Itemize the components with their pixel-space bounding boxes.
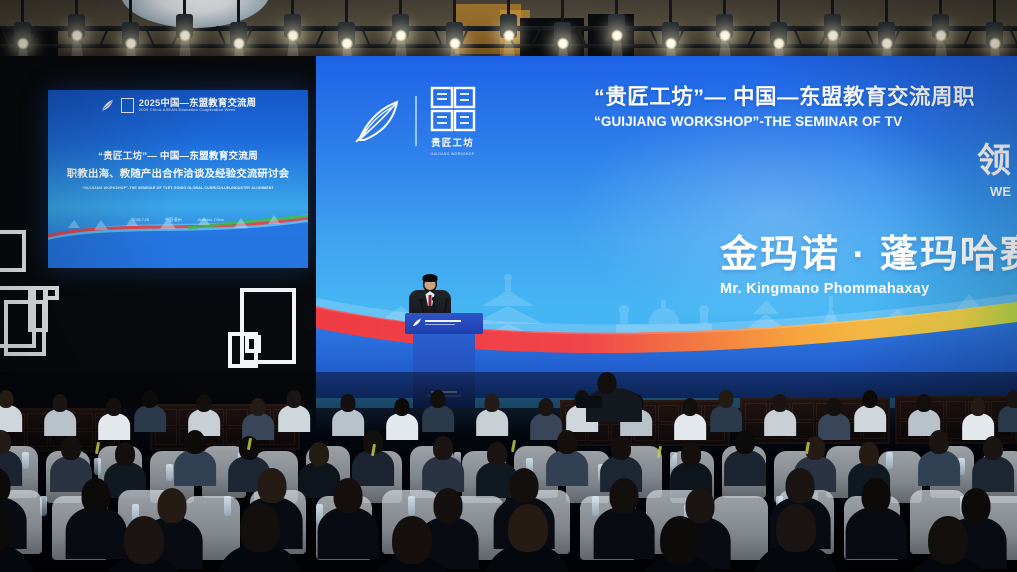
audience-head xyxy=(786,468,815,503)
audience-head xyxy=(859,442,879,466)
light-hanger xyxy=(453,0,456,22)
audience-head xyxy=(286,390,301,408)
stage-spotlight-icon xyxy=(122,22,139,46)
stage-spotlight-icon xyxy=(824,14,841,38)
decor-frame-5 xyxy=(0,230,26,272)
side-screen-header-text: 2025中国—东盟教育交流周 2025 China-ASEAN Educatio… xyxy=(139,98,256,112)
audience-shoulders xyxy=(134,405,166,432)
audience-member xyxy=(242,398,274,440)
audience-member xyxy=(638,516,722,572)
audience-head xyxy=(142,390,157,408)
audience-head xyxy=(394,398,409,416)
audience-shoulders xyxy=(972,456,1014,492)
audience-member xyxy=(370,516,454,572)
audience-member xyxy=(278,390,310,432)
audience-member xyxy=(422,436,464,491)
audience-head xyxy=(240,504,280,552)
light-hanger xyxy=(237,0,240,22)
audience-member xyxy=(218,504,302,572)
stage-spotlight-icon xyxy=(392,14,409,38)
audience-member xyxy=(352,430,394,485)
side-screen-wave-graphic xyxy=(48,210,308,268)
audience-head xyxy=(610,478,639,513)
leaf-brand-icon xyxy=(100,98,116,112)
water-bottle xyxy=(94,458,101,475)
audience-member xyxy=(674,398,706,440)
side-screen-header-en: 2025 China-ASEAN Education Cooperation W… xyxy=(139,108,256,112)
audience-member xyxy=(962,398,994,440)
audience-shoulders xyxy=(674,413,706,440)
stage-spotlight-icon xyxy=(986,22,1003,46)
audience-shoulders xyxy=(764,409,796,436)
stage-spotlight-icon xyxy=(878,22,895,46)
light-hanger xyxy=(561,0,564,22)
audience-head xyxy=(970,398,985,416)
audience-head xyxy=(52,394,67,412)
audience-head xyxy=(484,394,499,412)
side-screen-title-en: “GUIJIANG WORKSHOP”-THE SEMINAR OF TVET … xyxy=(48,186,308,190)
speaker-name-en: Mr. Kingmano Phommahaxay xyxy=(720,281,1017,297)
seal-icon xyxy=(121,98,134,113)
audience-shoulders xyxy=(0,405,22,432)
light-hanger xyxy=(777,0,780,22)
session-label-en: WE xyxy=(977,184,1011,199)
stage-spotlight-icon xyxy=(608,14,625,38)
speaker-hair xyxy=(423,274,438,282)
audience-head xyxy=(682,398,697,416)
audience-head xyxy=(82,478,111,513)
audience-member xyxy=(998,390,1017,432)
light-hanger xyxy=(723,0,726,14)
stage-spotlight-icon xyxy=(338,22,355,46)
audience-head xyxy=(929,430,949,454)
audience-head xyxy=(538,398,553,416)
stage-spotlight-icon xyxy=(932,14,949,38)
water-bottle xyxy=(40,496,47,516)
event-logo-lockup: 贵匠工坊 GUIJIANG WORKSHOP xyxy=(354,86,476,156)
speaker-tie xyxy=(429,295,432,306)
audience-member xyxy=(754,504,838,572)
square-seal-icon xyxy=(430,86,476,132)
water-bottle xyxy=(22,452,29,469)
audience-member xyxy=(818,398,850,440)
light-hanger xyxy=(831,0,834,14)
audience-member xyxy=(846,478,907,558)
logo-divider xyxy=(415,96,417,146)
side-screen-header: 2025中国—东盟教育交流周 2025 China-ASEAN Educatio… xyxy=(48,90,308,120)
audience-member xyxy=(710,390,742,432)
audience-member xyxy=(486,504,570,572)
stage-spotlight-icon xyxy=(284,14,301,38)
audience-member xyxy=(764,394,796,436)
audience-head xyxy=(250,398,265,416)
audience-member xyxy=(174,430,216,485)
leaf-brand-icon xyxy=(354,98,402,144)
audience-head xyxy=(718,390,733,408)
audience-head xyxy=(983,436,1003,460)
audience-head xyxy=(0,504,12,552)
audience-head xyxy=(258,468,287,503)
audience-member xyxy=(854,390,886,432)
light-hanger xyxy=(75,0,78,14)
podium-brand-text xyxy=(425,320,461,325)
light-hanger xyxy=(345,0,348,22)
speaker-name-cn: 金玛诺 · 蓬玛哈赛 xyxy=(720,236,1017,274)
audience-head xyxy=(862,478,891,513)
stage-spotlight-icon xyxy=(770,22,787,46)
audience-head xyxy=(735,430,755,454)
light-hanger xyxy=(183,0,186,14)
leaf-brand-icon xyxy=(412,318,422,327)
stage-spotlight-icon xyxy=(716,14,733,38)
audience-member xyxy=(724,430,766,485)
light-hanger xyxy=(993,0,996,22)
audience-head xyxy=(334,478,363,513)
light-hanger xyxy=(399,0,402,14)
light-hanger xyxy=(507,0,510,14)
side-screen-title-block: “贵匠工坊”— 中国—东盟教育交流周 职教出海、教随产出合作洽谈及经验交流研讨会… xyxy=(48,148,308,190)
audience-shoulders xyxy=(44,409,76,436)
audience-head xyxy=(916,394,931,412)
podium-brand-line-1 xyxy=(425,320,461,322)
audience-head xyxy=(61,436,81,460)
audience-head xyxy=(681,442,701,466)
seal-logo-cn: 贵匠工坊 xyxy=(431,135,474,149)
light-hanger xyxy=(885,0,888,22)
audience-head xyxy=(487,442,507,466)
session-label-block: 领 WE xyxy=(977,144,1011,199)
audience-head xyxy=(557,430,577,454)
audience-shoulders xyxy=(98,413,130,440)
stage-spotlight-icon xyxy=(500,14,517,38)
decor-frame-4 xyxy=(43,286,59,300)
podium-top-surface xyxy=(405,313,483,334)
ceiling-speaker-box xyxy=(520,18,584,58)
audience-head xyxy=(776,504,816,552)
audience-head xyxy=(1006,390,1017,408)
audience-head xyxy=(660,516,700,564)
audience-head xyxy=(340,394,355,412)
audience-head xyxy=(309,442,329,466)
stage-spotlight-icon xyxy=(554,22,571,46)
audience-member xyxy=(102,516,186,572)
audience-member xyxy=(476,394,508,436)
conference-hall-photo: 2025中国—东盟教育交流周 2025 China-ASEAN Educatio… xyxy=(0,0,1017,572)
audience-member xyxy=(0,390,22,432)
light-hanger xyxy=(615,0,618,14)
audience-head xyxy=(928,516,968,564)
podium-brand-line-2 xyxy=(425,324,455,326)
audience-member xyxy=(44,394,76,436)
audience-shoulders xyxy=(278,405,310,432)
audience-head xyxy=(0,390,13,408)
light-hanger xyxy=(291,0,294,14)
light-hanger xyxy=(21,0,24,22)
podium-logo xyxy=(412,318,461,327)
audience-head xyxy=(115,442,135,466)
water-bottle xyxy=(408,496,415,516)
light-hanger xyxy=(939,0,942,14)
audience-head xyxy=(0,468,11,503)
stage-spotlight-icon xyxy=(446,22,463,46)
screen-headline-cn: “贵匠工坊”— 中国—东盟教育交流周职 xyxy=(594,80,1017,111)
audience-head xyxy=(826,398,841,416)
photographer-head xyxy=(598,372,617,394)
screen-headline-block: “贵匠工坊”— 中国—东盟教育交流周职 “GUIJIANG WORKSHOP”-… xyxy=(594,80,1017,129)
side-screen-title-line1: “贵匠工坊”— 中国—东盟教育交流周 xyxy=(48,148,308,162)
audience-member xyxy=(98,398,130,440)
side-projection-screen: 2025中国—东盟教育交流周 2025 China-ASEAN Educatio… xyxy=(48,90,308,268)
audience-head xyxy=(433,436,453,460)
decor-frame-8 xyxy=(245,335,261,353)
audience-member xyxy=(134,390,166,432)
audience-shoulders xyxy=(422,456,464,492)
audience-shoulders xyxy=(998,405,1017,432)
audience-shoulders xyxy=(710,405,742,432)
audience-member xyxy=(0,504,34,572)
audience-shoulders xyxy=(918,450,960,486)
seal-logo-group: 贵匠工坊 GUIJIANG WORKSHOP xyxy=(430,86,476,156)
session-label-cn: 领 xyxy=(977,144,1011,178)
audience-shoulders xyxy=(476,409,508,436)
audience-head xyxy=(508,504,548,552)
audience-head xyxy=(124,516,164,564)
audience-head xyxy=(196,394,211,412)
stage-spotlight-icon xyxy=(14,22,31,46)
stage-spotlight-icon xyxy=(662,22,679,46)
stage-spotlight-icon xyxy=(68,14,85,38)
camera-icon xyxy=(576,396,602,408)
speaker-name-block: 金玛诺 · 蓬玛哈赛 Mr. Kingmano Phommahaxay xyxy=(720,236,1017,297)
audience-area xyxy=(0,372,1017,572)
light-hanger xyxy=(669,0,672,22)
audience-head xyxy=(185,430,205,454)
light-hanger xyxy=(129,0,132,22)
audience-shoulders xyxy=(854,405,886,432)
audience-shoulders xyxy=(422,405,454,432)
audience-head xyxy=(772,394,787,412)
audience-shoulders xyxy=(174,450,216,486)
screen-headline-en: “GUIJIANG WORKSHOP”-THE SEMINAR OF TV xyxy=(594,114,1017,129)
audience-head xyxy=(392,516,432,564)
audience-member xyxy=(422,390,454,432)
audience-head xyxy=(106,398,121,416)
audience-shoulders xyxy=(846,507,907,559)
stage-spotlight-icon xyxy=(230,22,247,46)
audience-member xyxy=(918,430,960,485)
seal-logo-en: GUIJIANG WORKSHOP xyxy=(431,152,475,156)
audience-head xyxy=(611,436,631,460)
side-screen-title-line2: 职教出海、教随产出合作洽谈及经验交流研讨会 xyxy=(48,165,308,180)
audience-head xyxy=(510,468,539,503)
audience-member xyxy=(972,436,1014,491)
water-bottle xyxy=(166,464,173,481)
audience-shoulders xyxy=(724,450,766,486)
audience-head xyxy=(430,390,445,408)
stage-spotlight-icon xyxy=(176,14,193,38)
audience-member xyxy=(906,516,990,572)
audience-head xyxy=(862,390,877,408)
